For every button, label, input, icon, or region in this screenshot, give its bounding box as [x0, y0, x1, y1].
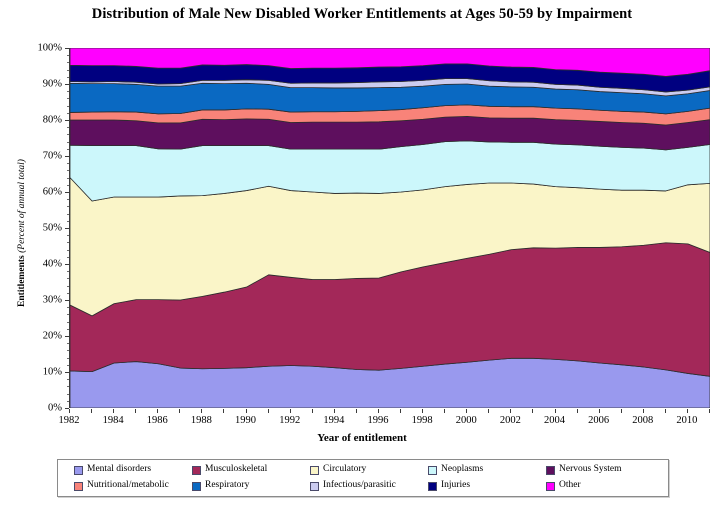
x-tick-mark	[709, 409, 710, 413]
x-tick-mark	[246, 409, 247, 413]
x-tick-mark	[157, 409, 158, 413]
legend-item[interactable]: Circulatory	[310, 465, 428, 475]
x-tick-mark	[665, 409, 666, 413]
y-tick-label: 0%	[48, 403, 62, 414]
legend-item-label: Infectious/parasitic	[323, 481, 396, 491]
legend-item[interactable]: Mental disorders	[74, 465, 192, 475]
x-axis-title: Year of entitlement	[0, 432, 724, 444]
legend-item[interactable]: Neoplasms	[428, 465, 546, 475]
x-tick-label: 1998	[412, 415, 433, 426]
x-tick-label: 2004	[544, 415, 565, 426]
x-tick-mark	[135, 409, 136, 413]
x-tick-label: 1982	[59, 415, 80, 426]
legend-swatch-icon	[428, 482, 437, 491]
y-tick-label: 50%	[43, 223, 62, 234]
x-tick-mark	[201, 409, 202, 413]
legend-swatch-icon	[546, 466, 555, 475]
x-tick-mark	[466, 409, 467, 413]
x-tick-mark	[488, 409, 489, 413]
plot-area	[69, 48, 709, 408]
legend-swatch-icon	[310, 482, 319, 491]
x-tick-label: 1996	[367, 415, 388, 426]
y-tick-label: 30%	[43, 295, 62, 306]
x-tick-label: 2002	[500, 415, 521, 426]
x-tick-mark	[113, 409, 114, 413]
x-tick-label: 2010	[676, 415, 697, 426]
x-tick-label: 2000	[456, 415, 477, 426]
y-tick-label: 80%	[43, 115, 62, 126]
legend-swatch-icon	[74, 482, 83, 491]
x-tick-mark	[69, 409, 70, 413]
x-tick-label: 1988	[191, 415, 212, 426]
legend-item-label: Neoplasms	[441, 465, 483, 475]
chart-title: Distribution of Male New Disabled Worker…	[0, 6, 724, 23]
legend-swatch-icon	[192, 482, 201, 491]
x-tick-mark	[334, 409, 335, 413]
x-tick-mark	[621, 409, 622, 413]
legend-swatch-icon	[74, 466, 83, 475]
x-tick-mark	[532, 409, 533, 413]
x-tick-mark	[687, 409, 688, 413]
legend-grid: Mental disordersMusculoskeletalCirculato…	[58, 460, 668, 496]
y-axis-title-main: Entitlements	[17, 255, 27, 307]
y-tick-label: 60%	[43, 187, 62, 198]
legend-item-label: Nutritional/metabolic	[87, 481, 169, 491]
plot-wrapper	[69, 48, 709, 408]
legend-item-label: Nervous System	[559, 465, 622, 475]
y-tick-label: 10%	[43, 367, 62, 378]
x-tick-mark	[599, 409, 600, 413]
x-tick-label: 2006	[588, 415, 609, 426]
y-tick-label: 100%	[38, 43, 63, 54]
x-tick-mark	[290, 409, 291, 413]
x-tick-mark	[223, 409, 224, 413]
x-tick-mark	[268, 409, 269, 413]
y-tick-label: 90%	[43, 79, 62, 90]
legend-swatch-icon	[428, 466, 437, 475]
legend-item-label: Injuries	[441, 481, 470, 491]
y-tick-label: 70%	[43, 151, 62, 162]
x-tick-mark	[422, 409, 423, 413]
y-tick-label: 40%	[43, 259, 62, 270]
x-tick-mark	[510, 409, 511, 413]
y-axis-title: Entitlements (Percent of annual total)	[17, 133, 27, 333]
x-tick-mark	[400, 409, 401, 413]
legend-item[interactable]: Nervous System	[546, 465, 664, 475]
legend-item[interactable]: Other	[546, 481, 664, 491]
legend-item-label: Other	[559, 481, 581, 491]
legend-swatch-icon	[546, 482, 555, 491]
stacked-area-plot	[70, 48, 710, 408]
legend-item[interactable]: Nutritional/metabolic	[74, 481, 192, 491]
legend-item-label: Musculoskeletal	[205, 465, 267, 475]
x-tick-mark	[378, 409, 379, 413]
x-tick-mark	[555, 409, 556, 413]
x-tick-label: 1990	[235, 415, 256, 426]
x-tick-mark	[444, 409, 445, 413]
x-tick-mark	[356, 409, 357, 413]
x-tick-label: 2008	[632, 415, 653, 426]
legend-item[interactable]: Musculoskeletal	[192, 465, 310, 475]
y-tick-label: 20%	[43, 331, 62, 342]
x-tick-label: 1984	[103, 415, 124, 426]
legend-item[interactable]: Injuries	[428, 481, 546, 491]
legend-swatch-icon	[192, 466, 201, 475]
legend-item-label: Mental disorders	[87, 465, 151, 475]
x-tick-mark	[179, 409, 180, 413]
legend-swatch-icon	[310, 466, 319, 475]
x-tick-label: 1994	[323, 415, 344, 426]
chart-screenshot: Distribution of Male New Disabled Worker…	[0, 0, 724, 509]
x-tick-mark	[312, 409, 313, 413]
chart-legend: Mental disordersMusculoskeletalCirculato…	[57, 459, 669, 497]
x-tick-mark	[91, 409, 92, 413]
legend-item-label: Circulatory	[323, 465, 366, 475]
x-tick-mark	[643, 409, 644, 413]
x-tick-label: 1992	[279, 415, 300, 426]
legend-item[interactable]: Respiratory	[192, 481, 310, 491]
y-axis: 0%10%20%30%40%50%60%70%80%90%100%	[0, 48, 69, 409]
x-tick-mark	[577, 409, 578, 413]
legend-item-label: Respiratory	[205, 481, 249, 491]
legend-item[interactable]: Infectious/parasitic	[310, 481, 428, 491]
x-tick-label: 1986	[147, 415, 168, 426]
y-axis-title-unit: (Percent of annual total)	[17, 159, 27, 253]
